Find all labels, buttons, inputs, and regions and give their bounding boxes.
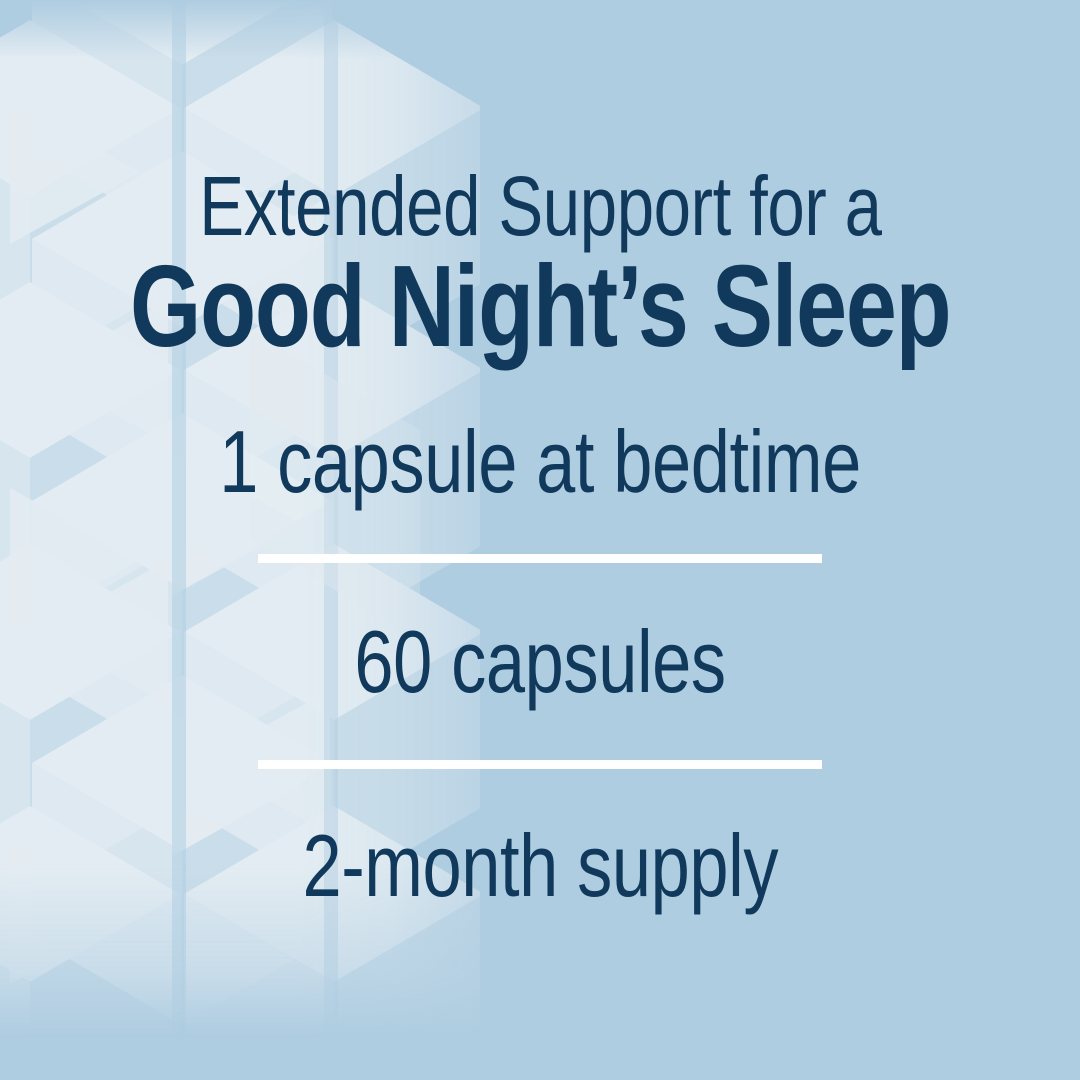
headline-eyebrow: Extended Support for a bbox=[0, 164, 1080, 248]
spec-count: 60 capsules bbox=[0, 618, 1080, 706]
spec-count-text: 60 capsules bbox=[354, 618, 725, 706]
product-infographic-card: Extended Support for a Good Night’s Slee… bbox=[0, 0, 1080, 1080]
spec-supply-text: 2-month supply bbox=[302, 822, 778, 910]
page-title: Good Night’s Sleep bbox=[0, 248, 1080, 364]
spec-dose-text: 1 capsule at bedtime bbox=[219, 418, 861, 506]
text-content: Extended Support for a Good Night’s Slee… bbox=[0, 0, 1080, 1080]
spec-dose: 1 capsule at bedtime bbox=[0, 418, 1080, 506]
headline-eyebrow-text: Extended Support for a bbox=[199, 164, 881, 248]
page-title-text: Good Night’s Sleep bbox=[130, 248, 950, 364]
spec-supply: 2-month supply bbox=[0, 822, 1080, 910]
